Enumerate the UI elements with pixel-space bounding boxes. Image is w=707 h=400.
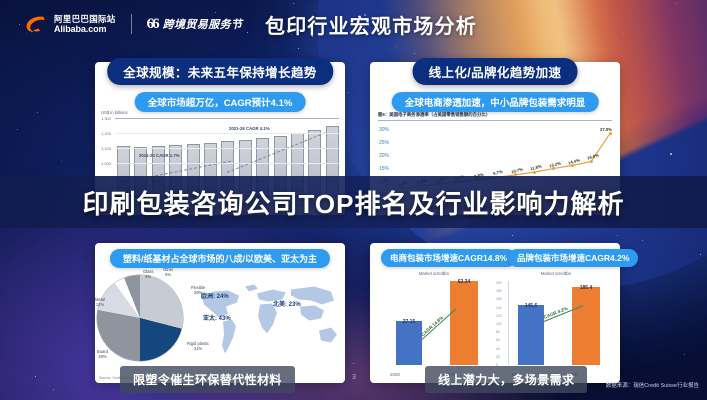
card-subtitle-online-branding: 全球电商渗透加速，中小品牌包装需求明显 [392, 92, 599, 112]
plot-area: 27.15 62.34 CAGR 14.8% [388, 281, 488, 365]
star [353, 363, 354, 364]
bar-2026 [450, 281, 478, 365]
ytick: 1,200 [101, 131, 111, 136]
star [670, 153, 672, 155]
slide-canvas: 阿里巴巴国际站 Alibaba.com 66 跨境贸易服务节 包印行业宏观市场分… [0, 0, 707, 400]
card-subtitle-global-scale: 全球市场超万亿，CAGR预计4.1% [135, 92, 306, 112]
festival-label: 跨境贸易服务节 [163, 16, 243, 32]
star [414, 53, 415, 54]
pill-brand-cagr: 品牌包装市场增速CAGR4.2% [508, 249, 638, 267]
pie-label-board: Board28% [97, 349, 108, 359]
star [348, 92, 349, 93]
plot-area: 145.6 185.4 CAGR 4.2% [510, 281, 610, 365]
bar-value-2026: 185.4 [566, 285, 606, 291]
y-tick-label: 80 [496, 330, 500, 334]
bar-value-2020: 27.15 [389, 319, 429, 325]
chart-title: Market size/$bn [496, 271, 616, 276]
y-tick-label: 100 [496, 322, 502, 326]
alibaba-logo: 阿里巴巴国际站 Alibaba.com [24, 13, 116, 35]
x-label-2020: 2020 [375, 372, 415, 377]
ytick: 1,100 [101, 146, 111, 151]
chart-title: Market size/$bn [374, 271, 494, 276]
bar-2020 [396, 321, 422, 365]
card-title-online-branding: 线上化/品牌化趋势加速 [413, 58, 578, 85]
footer-tag-left: 限塑令催生环保替代性材料 [120, 366, 295, 393]
y-tick-label: 120 [496, 314, 502, 318]
star [35, 376, 36, 377]
festival-mark-icon: 66 [147, 16, 158, 33]
pill-ecommerce-cagr: 电商包装市场增速CAGR14.8% [381, 249, 516, 267]
ytick: 1,300 [101, 116, 111, 121]
data-point-label: 27.0% [600, 127, 612, 132]
star [642, 240, 643, 241]
y-tick-label: 60 [496, 338, 500, 342]
bar-2020 [518, 305, 544, 365]
star [37, 112, 38, 113]
map-label-apac: 亚太: 43% [203, 313, 231, 322]
star [617, 235, 618, 236]
banner-title: 印刷包装咨询公司TOP排名及行业影响力解析 [83, 184, 625, 221]
y-tick-label: 160 [496, 297, 502, 301]
y-tick-label: 40 [496, 347, 500, 351]
title-banner: 印刷包装咨询公司TOP排名及行业影响力解析 [0, 176, 707, 228]
data-point [533, 171, 536, 174]
data-point [590, 160, 593, 163]
chart-ylabel: US$ in billions [101, 110, 128, 115]
gridline [115, 133, 339, 134]
footer-tag-right: 线上潜力大，多场景需求 [425, 366, 587, 393]
y-tick-label: 140 [496, 306, 502, 310]
star [61, 161, 62, 162]
y-tick-label: 200 [496, 281, 502, 285]
chart-ecommerce-packaging: Market size/$bn 27.15 62.34 CAGR 14.8% 2… [374, 269, 494, 379]
alibaba-mark-icon [24, 13, 50, 35]
pie-label-metal: Metal12% [95, 297, 105, 307]
star [53, 389, 54, 390]
brand-divider [131, 14, 132, 34]
alibaba-wordmark: 阿里巴巴国际站 Alibaba.com [54, 15, 116, 34]
alibaba-brand-cn: 阿里巴巴国际站 [54, 15, 116, 24]
ytick: 1,000 [101, 161, 111, 166]
star [700, 254, 701, 255]
slide-header: 阿里巴巴国际站 Alibaba.com 66 跨境贸易服务节 包印行业宏观市场分… [0, 0, 707, 52]
pie-label-glass: Glass4% [143, 269, 153, 279]
festival-logo: 66 跨境贸易服务节 [147, 16, 243, 33]
map-label-north-america: 北美: 23% [273, 299, 301, 308]
star [512, 235, 513, 236]
bar-value-2020: 145.6 [511, 303, 551, 309]
cagr-annotation-1: 2014-20 CAGR 1.7% [139, 153, 180, 158]
deck-title: 包印行业宏观市场分析 [265, 10, 477, 39]
data-point [609, 132, 612, 135]
map-label-europe: 欧洲: 24% [201, 291, 229, 300]
y-tick-label: 20 [496, 355, 500, 359]
star [17, 129, 18, 130]
bar-2026 [572, 287, 600, 365]
y-tick-label: 180 [496, 289, 502, 293]
gridline [115, 148, 339, 149]
page-number: 3 [352, 374, 356, 381]
gridline [115, 163, 339, 164]
chart-brand-packaging: Market size/$bn 200180160140120100806040… [496, 269, 616, 379]
pie-chart-material-mix [97, 275, 183, 361]
pie-label-other: Other6% [163, 267, 173, 277]
card-title-global-scale: 全球规模：未来五年保持增长趋势 [107, 58, 333, 85]
alibaba-brand-en: Alibaba.com [54, 25, 116, 34]
cagr-annotation-2: 2021-26 CAGR 4.1% [229, 126, 270, 131]
star [684, 354, 685, 355]
card-subtitle-material-mix: 塑料/纸基材占全球市场的八成/以欧美、亚太为主 [110, 249, 330, 268]
bar-value-2026: 62.34 [444, 279, 484, 285]
footer-source: 数据来源：瑞信Credit Suisse行业报告 [606, 381, 699, 389]
brand-row: 阿里巴巴国际站 Alibaba.com 66 跨境贸易服务节 [24, 13, 242, 35]
